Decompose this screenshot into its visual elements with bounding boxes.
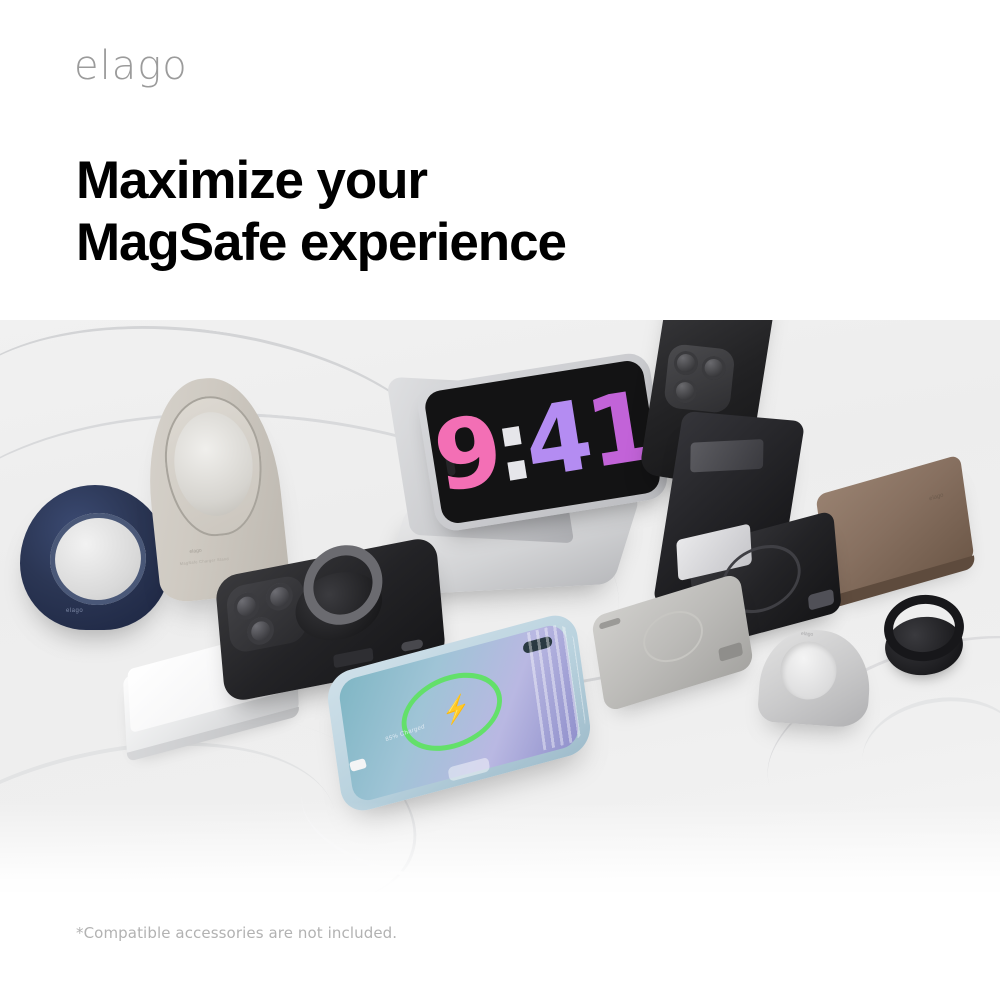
footer-section: *Compatible accessories are not included… bbox=[0, 892, 1000, 1000]
product-photo-stage: elago elago MagSafe Charger Stand 9 : bbox=[0, 320, 1000, 892]
elago-logo: elago bbox=[74, 46, 188, 86]
camera-lens-icon bbox=[265, 581, 294, 613]
pull-tab bbox=[718, 642, 743, 662]
product-banner: elago Maximize your MagSafe experience e… bbox=[0, 0, 1000, 1000]
lockscreen-clock: 9 : 4 1 bbox=[423, 359, 662, 526]
camera-lens-icon bbox=[700, 355, 726, 381]
product-logo-mark: elago bbox=[66, 608, 83, 614]
stand-face bbox=[159, 391, 269, 540]
navy-dome-charger: elago bbox=[20, 485, 170, 630]
black-ring-holder bbox=[880, 595, 968, 677]
card-slot bbox=[690, 439, 763, 472]
camera-lens-icon bbox=[672, 378, 698, 404]
product-logo-mark: elago bbox=[801, 631, 814, 638]
product-sub-mark: MagSafe Charger Stand bbox=[179, 556, 229, 566]
charging-coil-emboss bbox=[640, 604, 707, 670]
header-section: elago Maximize your MagSafe experience bbox=[0, 0, 1000, 320]
page-title: Maximize your MagSafe experience bbox=[76, 150, 566, 274]
phone-screen: 9 : 4 1 bbox=[423, 359, 662, 526]
magsafe-puck bbox=[169, 408, 257, 520]
camera-plate bbox=[663, 343, 735, 414]
magsafe-puck bbox=[43, 505, 154, 612]
camera-lens-icon bbox=[673, 350, 699, 376]
camera-lens-icon bbox=[246, 615, 275, 647]
brown-leather-wallet: elago bbox=[816, 454, 975, 600]
gray-watch-stand: elago bbox=[757, 626, 873, 728]
pull-tab bbox=[808, 589, 834, 611]
product-logo-mark: elago bbox=[189, 548, 202, 555]
usb-port bbox=[599, 617, 621, 629]
product-logo-mark: elago bbox=[929, 492, 944, 502]
watch-cradle bbox=[779, 640, 839, 702]
disclaimer-note: *Compatible accessories are not included… bbox=[76, 924, 397, 942]
